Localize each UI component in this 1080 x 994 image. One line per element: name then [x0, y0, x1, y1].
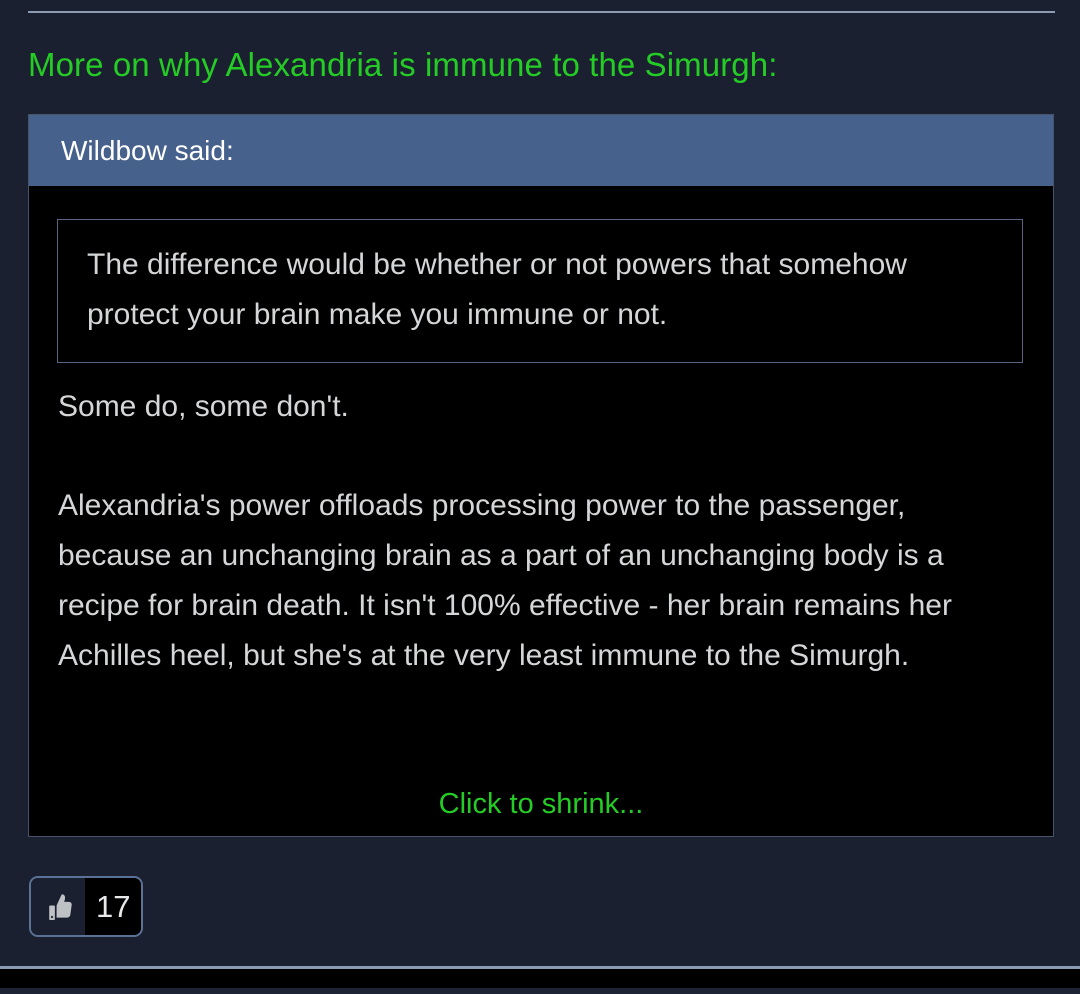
page-title[interactable]: More on why Alexandria is immune to the … — [28, 44, 777, 86]
thumbs-up-icon — [31, 878, 85, 935]
bottom-black-band — [0, 969, 1080, 988]
reaction-bar: 17 — [29, 876, 143, 937]
quote-paragraph: Alexandria's power offloads processing p… — [57, 481, 1023, 681]
nested-quote-text: The difference would be whether or not p… — [87, 240, 996, 340]
reaction-count: 17 — [85, 878, 141, 935]
bottom-strip — [0, 988, 1080, 994]
quote-author-label: Wildbow said: — [61, 134, 234, 168]
click-to-shrink-link[interactable]: Click to shrink... — [29, 786, 1053, 822]
nested-quote-box: The difference would be whether or not p… — [57, 219, 1023, 363]
quote-block: Wildbow said: The difference would be wh… — [28, 114, 1054, 837]
top-divider — [28, 11, 1055, 13]
like-reaction-button[interactable]: 17 — [29, 876, 143, 937]
quote-paragraph: Some do, some don't. — [57, 382, 1023, 432]
quote-attribution-header[interactable]: Wildbow said: — [29, 115, 1053, 186]
quote-body: The difference would be whether or not p… — [29, 186, 1053, 836]
